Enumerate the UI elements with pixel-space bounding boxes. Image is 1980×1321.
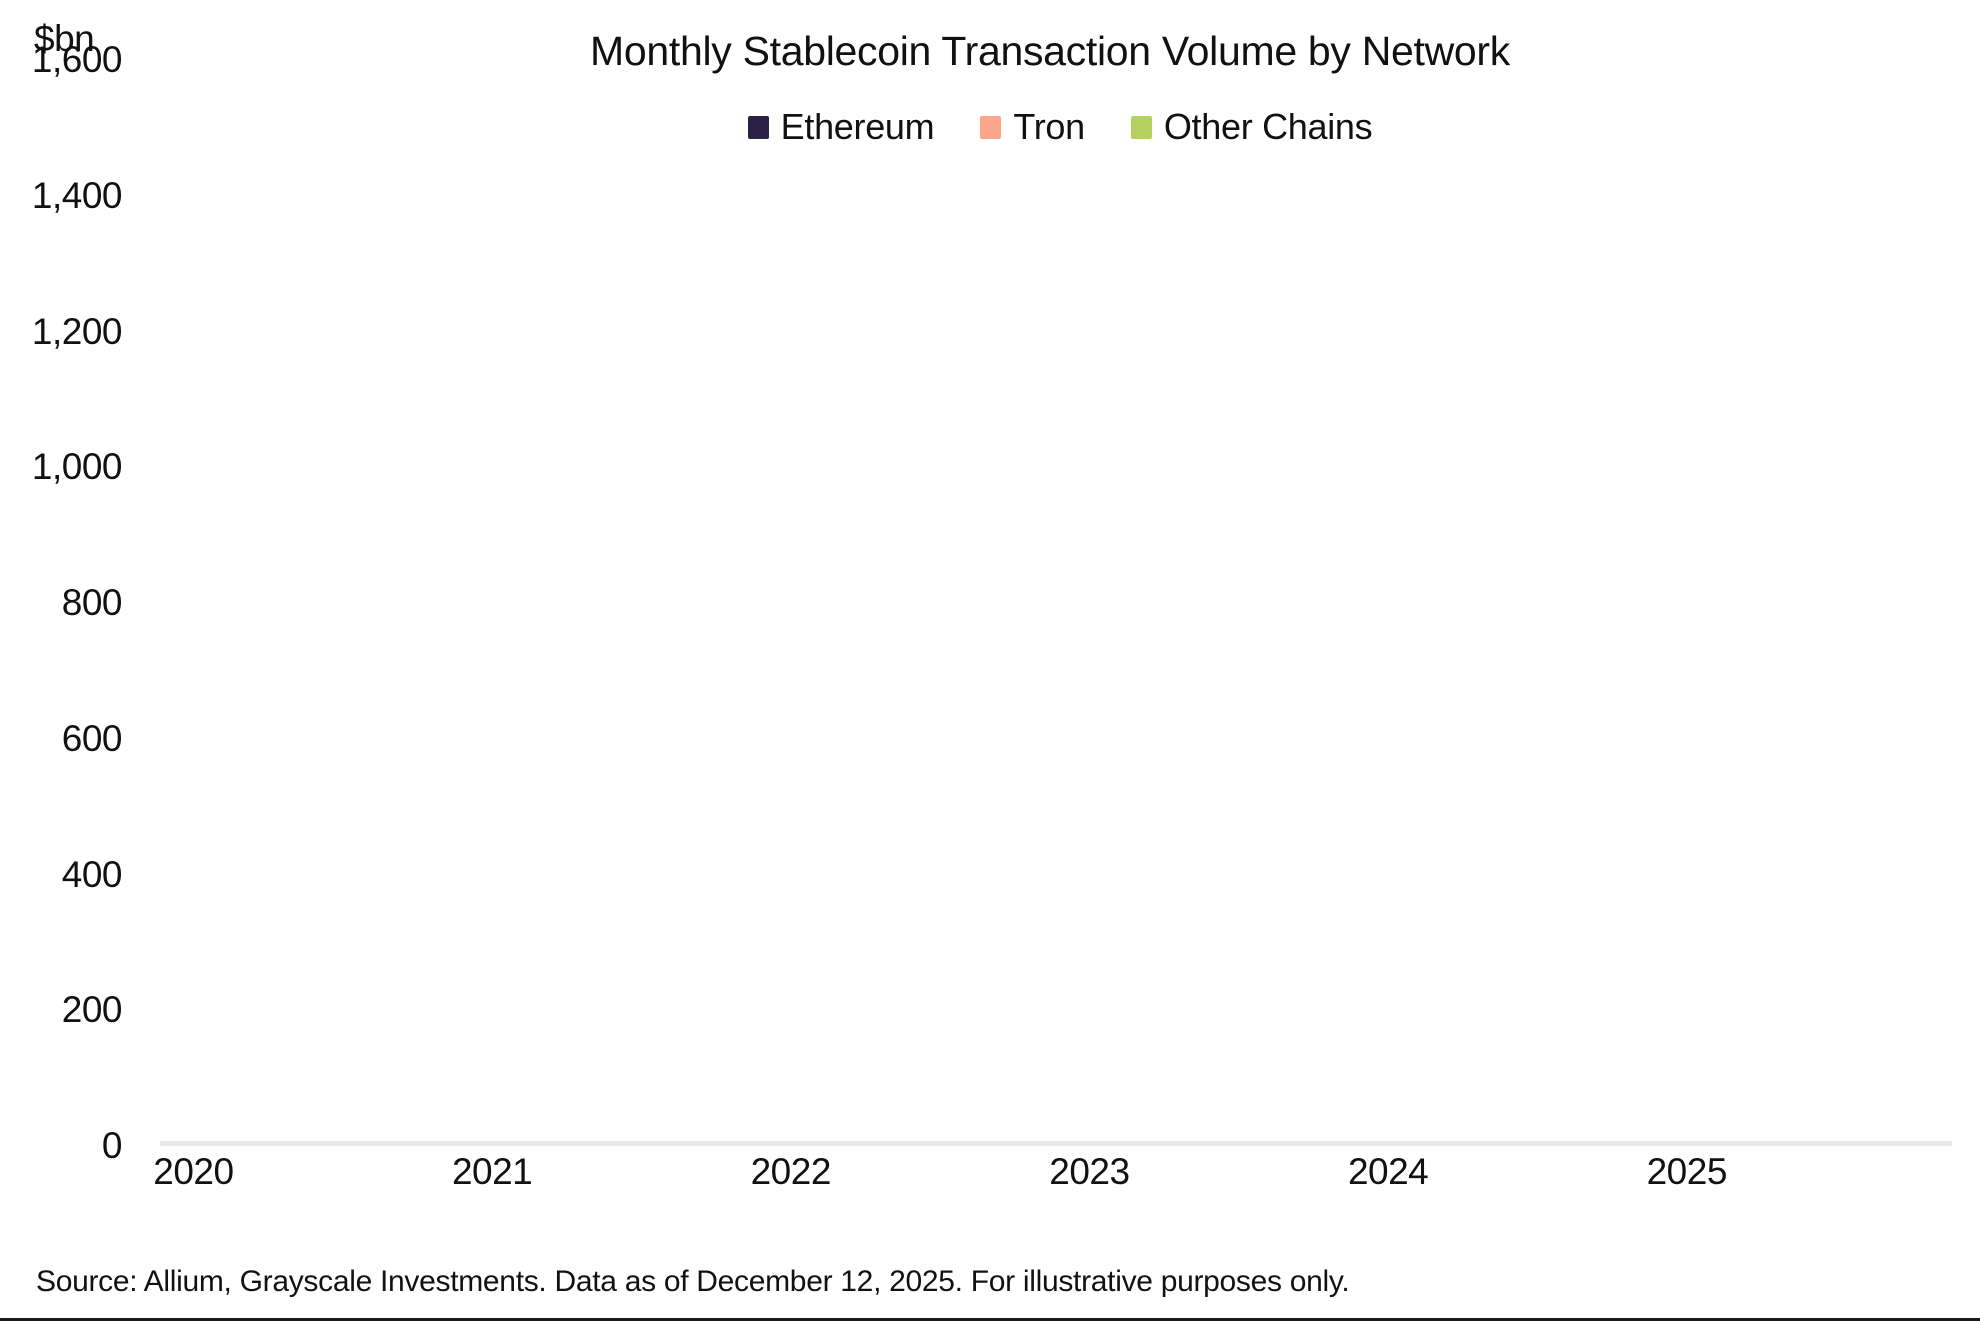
- bar-slot: [329, 60, 354, 1146]
- bar-slot: [304, 60, 329, 1146]
- bar-slot: [1116, 60, 1141, 1146]
- bar-slot: [279, 60, 304, 1146]
- bar-slot: [722, 60, 747, 1146]
- bar-slot: [1657, 60, 1682, 1146]
- bar-slot: [624, 60, 649, 1146]
- bar-slot: [1165, 60, 1190, 1146]
- x-axis: 202020212022202320242025: [160, 1151, 1952, 1201]
- bar-slot: [452, 60, 477, 1146]
- bar-slot: [943, 60, 968, 1146]
- bar-slot: [1804, 60, 1829, 1146]
- bar-slot: [1509, 60, 1534, 1146]
- bar-slot: [230, 60, 255, 1146]
- bar-slot: [1066, 60, 1091, 1146]
- bar-slot: [1558, 60, 1583, 1146]
- bar-slot: [1435, 60, 1460, 1146]
- bar-slot: [1829, 60, 1854, 1146]
- bar-slot: [1927, 60, 1952, 1146]
- bar-slot: [1362, 60, 1387, 1146]
- bar-slot: [796, 60, 821, 1146]
- y-axis-tick-label: 400: [62, 854, 122, 896]
- x-axis-tick-label: 2025: [1647, 1151, 1727, 1193]
- y-axis-tick-label: 800: [62, 582, 122, 624]
- bar-slot: [870, 60, 895, 1146]
- bar-slot: [771, 60, 796, 1146]
- y-axis-tick-label: 0: [102, 1125, 122, 1167]
- bar-slot: [1091, 60, 1116, 1146]
- bar-slot: [968, 60, 993, 1146]
- bar-slot: [697, 60, 722, 1146]
- bar-slot: [1263, 60, 1288, 1146]
- bar-group: [181, 60, 1952, 1146]
- bar-slot: [1706, 60, 1731, 1146]
- bar-slot: [1017, 60, 1042, 1146]
- bar-slot: [1534, 60, 1559, 1146]
- bar-slot: [1312, 60, 1337, 1146]
- source-note: Source: Allium, Grayscale Investments. D…: [36, 1265, 1349, 1299]
- bar-slot: [1411, 60, 1436, 1146]
- bar-slot: [894, 60, 919, 1146]
- bar-slot: [747, 60, 772, 1146]
- bar-slot: [402, 60, 427, 1146]
- bar-slot: [1780, 60, 1805, 1146]
- bar-slot: [255, 60, 280, 1146]
- bar-slot: [993, 60, 1018, 1146]
- bar-slot: [1239, 60, 1264, 1146]
- bar-slot: [599, 60, 624, 1146]
- bar-slot: [181, 60, 206, 1146]
- bar-slot: [378, 60, 403, 1146]
- bar-slot: [206, 60, 231, 1146]
- bar-slot: [1214, 60, 1239, 1146]
- bar-slot: [1484, 60, 1509, 1146]
- x-axis-tick-label: 2021: [452, 1151, 532, 1193]
- bar-slot: [575, 60, 600, 1146]
- bar-slot: [1632, 60, 1657, 1146]
- axis-baseline: [160, 1141, 1952, 1146]
- bar-slot: [1878, 60, 1903, 1146]
- bar-slot: [648, 60, 673, 1146]
- bar-slot: [550, 60, 575, 1146]
- bar-slot: [1853, 60, 1878, 1146]
- bar-slot: [1460, 60, 1485, 1146]
- bar-slot: [1730, 60, 1755, 1146]
- bar-slot: [820, 60, 845, 1146]
- bar-slot: [353, 60, 378, 1146]
- plot-area: [160, 60, 1952, 1146]
- chart-root: $bn Monthly Stablecoin Transaction Volum…: [0, 0, 1980, 1321]
- bar-slot: [845, 60, 870, 1146]
- x-axis-tick-label: 2020: [153, 1151, 233, 1193]
- y-axis-tick-label: 200: [62, 989, 122, 1031]
- x-axis-tick-label: 2023: [1049, 1151, 1129, 1193]
- bar-slot: [1386, 60, 1411, 1146]
- x-axis-tick-label: 2022: [751, 1151, 831, 1193]
- y-axis: 1,6001,4001,2001,0008006004002000: [0, 60, 150, 1146]
- bar-slot: [1583, 60, 1608, 1146]
- bar-slot: [919, 60, 944, 1146]
- bar-slot: [1288, 60, 1313, 1146]
- bar-slot: [1042, 60, 1067, 1146]
- bar-slot: [476, 60, 501, 1146]
- bar-slot: [673, 60, 698, 1146]
- bar-slot: [1140, 60, 1165, 1146]
- bar-slot: [1607, 60, 1632, 1146]
- bar-slot: [1337, 60, 1362, 1146]
- bar-slot: [1681, 60, 1706, 1146]
- bar-slot: [427, 60, 452, 1146]
- y-axis-tick-label: 1,400: [32, 175, 122, 217]
- y-axis-tick-label: 1,000: [32, 446, 122, 488]
- y-axis-tick-label: 600: [62, 718, 122, 760]
- y-axis-tick-label: 1,600: [32, 39, 122, 81]
- bar-slot: [501, 60, 526, 1146]
- y-axis-tick-label: 1,200: [32, 311, 122, 353]
- x-axis-tick-label: 2024: [1348, 1151, 1428, 1193]
- bar-slot: [1755, 60, 1780, 1146]
- bar-slot: [1189, 60, 1214, 1146]
- bar-slot: [525, 60, 550, 1146]
- bar-slot: [1903, 60, 1928, 1146]
